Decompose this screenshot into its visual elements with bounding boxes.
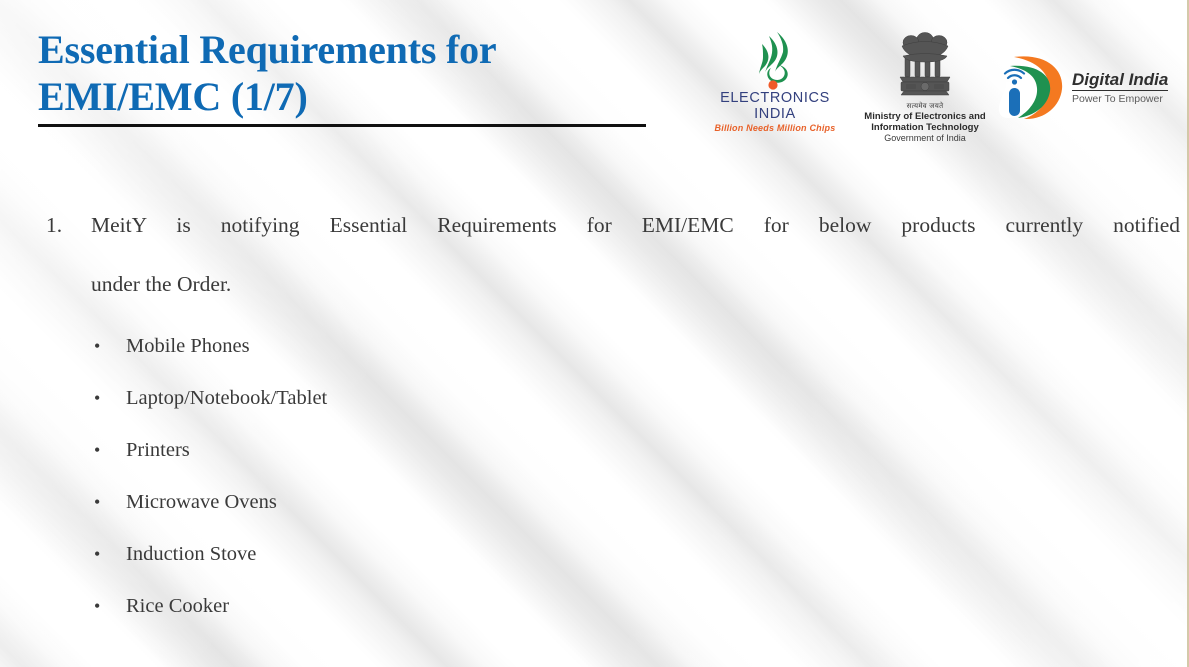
slide: Essential Requirements for EMI/EMC (1/7)…: [0, 0, 1189, 667]
ashoka-emblem-icon: [860, 26, 990, 102]
numbered-list-item: 1. MeitY is notifying Essential Requirem…: [40, 196, 1180, 314]
list-item: • Induction Stove: [40, 528, 1180, 580]
logo-digital-india: Digital India Power To Empower: [994, 52, 1172, 124]
digital-india-tagline: Power To Empower: [1072, 91, 1168, 106]
logo-electronics-india: ELECTRONICS INDIA Billion Needs Million …: [700, 30, 850, 134]
product-bullet-list: • Mobile Phones • Laptop/Notebook/Tablet…: [40, 320, 1180, 632]
electronics-india-tagline: Billion Needs Million Chips: [700, 122, 850, 134]
list-item-label: Printers: [126, 439, 190, 461]
meity-line-1: Ministry of Electronics and: [860, 111, 990, 122]
bullet-dot-icon: •: [94, 424, 100, 476]
meity-sanskrit-motto: सत्यमेव जयते: [860, 102, 990, 111]
digital-india-name: Digital India: [1072, 70, 1168, 91]
bullet-dot-icon: •: [94, 320, 100, 372]
electronics-india-name: ELECTRONICS INDIA: [700, 90, 850, 122]
list-item-label: Microwave Ovens: [126, 491, 277, 513]
bullet-dot-icon: •: [94, 372, 100, 424]
numbered-list-text-line-2: under the Order.: [91, 255, 1180, 314]
list-item: • Laptop/Notebook/Tablet: [40, 372, 1180, 424]
list-item-label: Induction Stove: [126, 543, 256, 565]
bullet-dot-icon: •: [94, 476, 100, 528]
list-item: • Printers: [40, 424, 1180, 476]
list-item-label: Rice Cooker: [126, 595, 229, 617]
numbered-list-text: MeitY is notifying Essential Requirement…: [91, 196, 1180, 314]
numbered-list-text-line-1: MeitY is notifying Essential Requirement…: [91, 196, 1180, 255]
bullet-dot-icon: •: [94, 528, 100, 580]
electronics-india-flame-icon: [700, 30, 850, 90]
logo-bar: ELECTRONICS INDIA Billion Needs Million …: [694, 26, 1172, 142]
list-item: • Microwave Ovens: [40, 476, 1180, 528]
title-block: Essential Requirements for EMI/EMC (1/7): [38, 26, 668, 120]
page-title: Essential Requirements for EMI/EMC (1/7): [38, 26, 668, 120]
list-item-label: Laptop/Notebook/Tablet: [126, 387, 327, 409]
list-item: • Rice Cooker: [40, 580, 1180, 632]
digital-india-swoosh-icon: [994, 52, 1070, 124]
numbered-list-marker: 1.: [46, 196, 62, 255]
title-underline-rule: [38, 124, 646, 127]
meity-line-2: Information Technology: [860, 122, 990, 133]
list-item: • Mobile Phones: [40, 320, 1180, 372]
logo-meity: सत्यमेव जयते Ministry of Electronics and…: [860, 26, 990, 144]
meity-line-3: Government of India: [860, 133, 990, 144]
list-item-label: Mobile Phones: [126, 335, 250, 357]
bullet-dot-icon: •: [94, 580, 100, 632]
slide-body: 1. MeitY is notifying Essential Requirem…: [40, 196, 1180, 648]
